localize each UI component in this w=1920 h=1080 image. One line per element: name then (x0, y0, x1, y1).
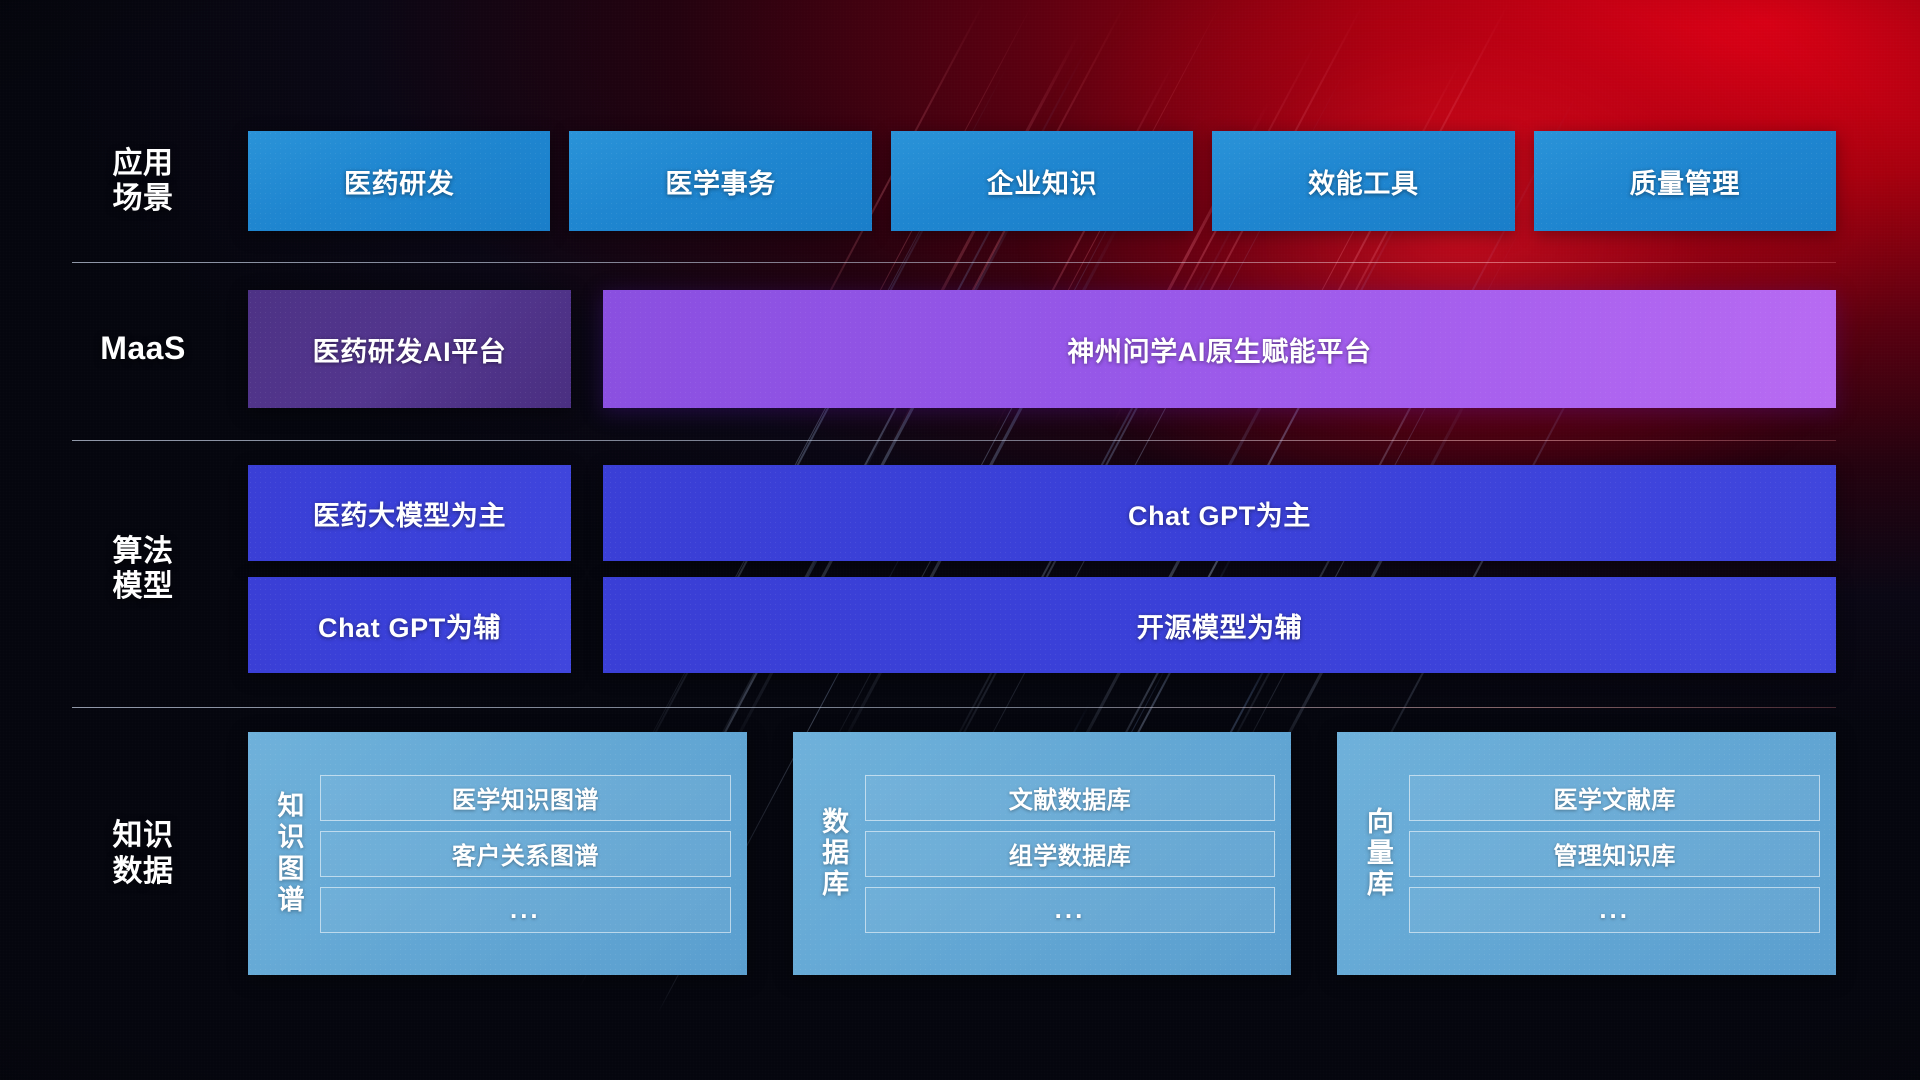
knowledge-item[interactable]: 组学数据库 (865, 831, 1276, 877)
panel-vertical-label-char: 数 (822, 807, 849, 838)
layer-divider-2 (72, 440, 1836, 441)
scenario-box[interactable]: 医药研发 (248, 131, 550, 231)
knowledge-panel[interactable]: 知识图谱医学知识图谱客户关系图谱... (248, 732, 747, 975)
layer-divider-1 (72, 262, 1836, 263)
panel-vertical-label-char: 库 (822, 869, 849, 900)
knowledge-item[interactable]: ... (1409, 887, 1820, 933)
panel-vertical-label-char: 图 (278, 854, 305, 885)
scenario-box-label: 效能工具 (1308, 162, 1418, 201)
maas-platform-box-shenzhou[interactable]: 神州问学AI原生赋能平台 (603, 290, 1836, 408)
knowledge-item-label: 医学知识图谱 (452, 780, 599, 815)
knowledge-item-label: 文献数据库 (1009, 780, 1132, 815)
row-label-line: 模型 (113, 569, 174, 604)
panel-vertical-label-char: 识 (278, 822, 305, 853)
maas-box-label: 神州问学AI原生赋能平台 (1067, 330, 1371, 369)
row-label-line: 应用 (113, 146, 174, 181)
panel-vertical-label-char: 库 (1367, 869, 1394, 900)
scenario-box-label: 医学事务 (665, 162, 775, 201)
algorithm-box-left[interactable]: 医药大模型为主 (248, 465, 571, 561)
row-label-line: 算法 (113, 534, 174, 569)
panel-vertical-label: 数据库 (807, 746, 865, 961)
algorithm-box-right[interactable]: 开源模型为辅 (603, 577, 1836, 673)
knowledge-item[interactable]: 医学知识图谱 (320, 775, 731, 821)
algorithm-box-right[interactable]: Chat GPT为主 (603, 465, 1836, 561)
row-label-line: 知识 (113, 818, 174, 853)
knowledge-item[interactable]: ... (320, 887, 731, 933)
scenario-box[interactable]: 效能工具 (1212, 131, 1514, 231)
knowledge-item-label: 医学文献库 (1553, 780, 1676, 815)
maas-platform-box-medical[interactable]: 医药研发AI平台 (248, 290, 571, 408)
row-label-algorithm-models: 算法模型 (78, 465, 208, 673)
algorithm-box-label: 医药大模型为主 (313, 494, 506, 533)
row-label-line: 数据 (113, 854, 174, 889)
panel-items: 文献数据库组学数据库... (865, 746, 1276, 961)
knowledge-item-label: ... (510, 894, 541, 925)
knowledge-item[interactable]: 客户关系图谱 (320, 831, 731, 877)
scenario-box[interactable]: 企业知识 (891, 131, 1193, 231)
panel-vertical-label: 知识图谱 (262, 746, 320, 961)
knowledge-item-label: ... (1599, 894, 1630, 925)
knowledge-item[interactable]: 文献数据库 (865, 775, 1276, 821)
maas-box-label: 医药研发AI平台 (313, 330, 507, 369)
row-label-knowledge-data: 知识数据 (78, 732, 208, 975)
panel-items: 医学知识图谱客户关系图谱... (320, 746, 731, 961)
algorithm-box-label: 开源模型为辅 (1137, 606, 1303, 645)
row-label-line: MaaS (100, 330, 186, 368)
panel-vertical-label: 向量库 (1351, 746, 1409, 961)
row-label-line: 场景 (113, 181, 174, 216)
knowledge-item-label: 管理知识库 (1553, 836, 1676, 871)
knowledge-item-label: 客户关系图谱 (452, 836, 599, 871)
knowledge-panel[interactable]: 数据库文献数据库组学数据库... (793, 732, 1292, 975)
knowledge-panel[interactable]: 向量库医学文献库管理知识库... (1337, 732, 1836, 975)
knowledge-item-label: 组学数据库 (1009, 836, 1132, 871)
panel-items: 医学文献库管理知识库... (1409, 746, 1820, 961)
row-label-maas: MaaS (78, 290, 208, 408)
scenario-box-label: 医药研发 (344, 162, 454, 201)
knowledge-item[interactable]: 医学文献库 (1409, 775, 1820, 821)
panel-vertical-label-char: 量 (1367, 838, 1394, 869)
panel-vertical-label-char: 据 (822, 838, 849, 869)
panel-vertical-label-char: 知 (278, 791, 305, 822)
algorithm-box-label: Chat GPT为辅 (318, 606, 501, 645)
scenario-box-label: 企业知识 (987, 162, 1097, 201)
algorithm-box-left[interactable]: Chat GPT为辅 (248, 577, 571, 673)
knowledge-item[interactable]: ... (865, 887, 1276, 933)
layer-divider-3 (72, 707, 1836, 708)
row-label-application-scenarios: 应用场景 (78, 131, 208, 231)
panel-vertical-label-char: 向 (1367, 807, 1394, 838)
panel-vertical-label-char: 谱 (278, 885, 305, 916)
architecture-diagram: 医药研发医学事务企业知识效能工具质量管理应用场景医药研发AI平台神州问学AI原生… (0, 0, 1920, 1080)
knowledge-item-label: ... (1055, 894, 1086, 925)
scenario-box-label: 质量管理 (1630, 162, 1740, 201)
knowledge-item[interactable]: 管理知识库 (1409, 831, 1820, 877)
algorithm-box-label: Chat GPT为主 (1128, 494, 1311, 533)
scenario-box[interactable]: 医学事务 (569, 131, 871, 231)
scenario-box[interactable]: 质量管理 (1534, 131, 1836, 231)
